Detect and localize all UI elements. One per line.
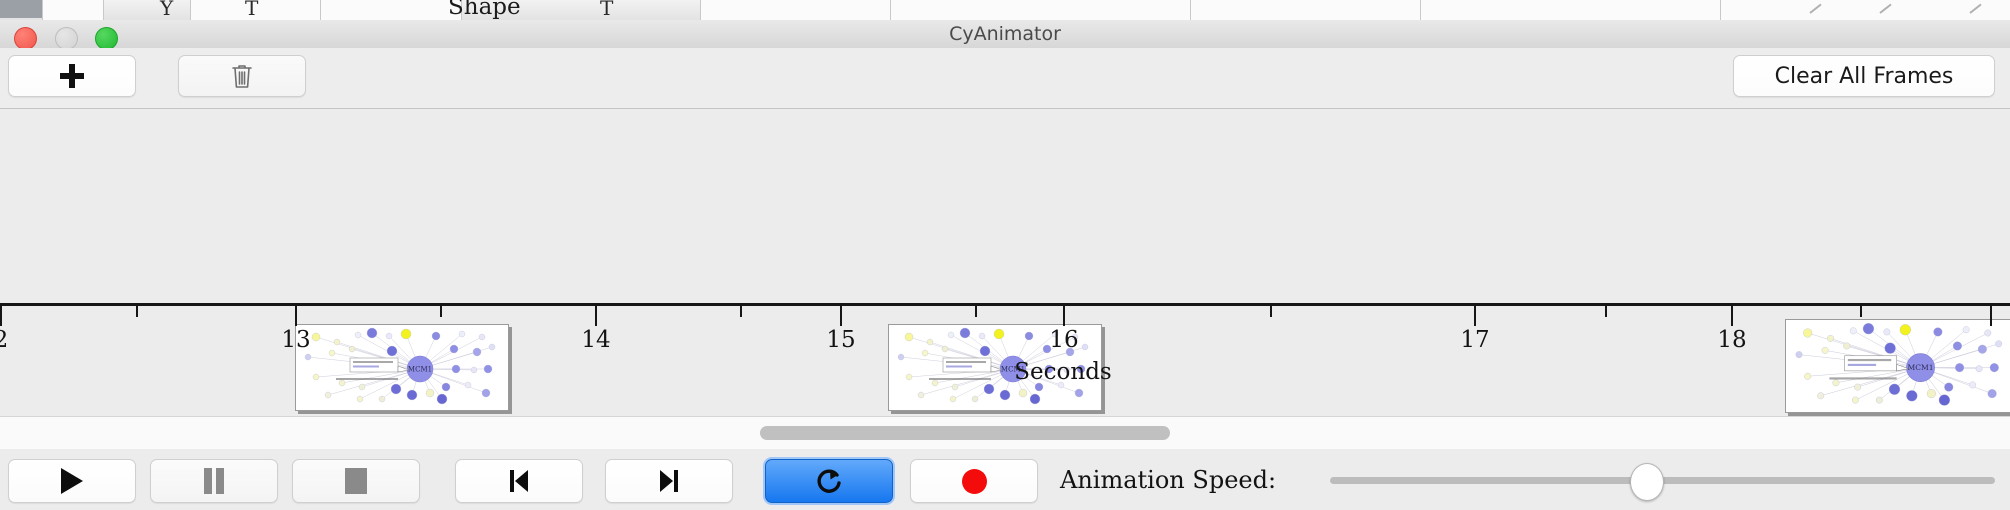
timeline-scrollbar[interactable]: [0, 416, 2010, 450]
pause-icon: [203, 468, 225, 494]
title-bar: CyAnimator: [0, 20, 2010, 49]
timeline-tick-label: 15: [826, 327, 855, 353]
timeline-tick-minor: [1605, 306, 1607, 317]
timeline-tick-major: [295, 306, 297, 326]
background-window-text: Shape: [448, 0, 521, 20]
window-title: CyAnimator: [0, 20, 2010, 48]
timeline-scrollbar-thumb[interactable]: [760, 426, 1170, 440]
delete-frame-button[interactable]: [178, 55, 306, 97]
toolbar: Clear All Frames: [0, 48, 2010, 109]
add-frame-button[interactable]: [8, 55, 136, 97]
timeline-tick-major: [1474, 306, 1476, 326]
record-icon: [962, 469, 987, 494]
animation-speed-label: Animation Speed:: [1060, 459, 1276, 501]
clear-all-frames-label: Clear All Frames: [1775, 64, 1954, 89]
animation-speed-slider-thumb[interactable]: [1630, 463, 1664, 501]
play-button[interactable]: [8, 459, 136, 503]
timeline-tick-minor: [975, 306, 977, 317]
timeline-tick-minor: [740, 306, 742, 317]
timeline-tick-major: [1990, 306, 1992, 326]
timeline-tick-label: 16: [1049, 327, 1078, 353]
timeline-axis-title: Seconds: [0, 359, 2010, 385]
play-icon: [61, 468, 83, 494]
timeline-tick-minor: [136, 306, 138, 317]
background-window-strip: Y T Ṫ Shape: [0, 0, 2010, 20]
previous-frame-button[interactable]: [455, 459, 583, 503]
trash-icon: [231, 63, 253, 89]
timeline-tick-major: [595, 306, 597, 326]
timeline-tick-major: [840, 306, 842, 326]
skip-back-icon: [506, 468, 532, 494]
timeline-tick-label: 17: [1460, 327, 1489, 353]
timeline-tick-label: 13: [281, 327, 310, 353]
timeline-tick-minor: [1860, 306, 1862, 317]
loop-button[interactable]: [765, 459, 893, 503]
loop-icon: [814, 466, 844, 496]
timeline-tick-major: [0, 306, 2, 326]
cyanimator-window: Y T Ṫ Shape CyAnimator Clear All Frames …: [0, 0, 2010, 510]
stop-icon: [345, 468, 367, 494]
timeline-tick-major: [1731, 306, 1733, 326]
timeline-tick-minor: [440, 306, 442, 317]
pause-button[interactable]: [150, 459, 278, 503]
timeline-axis: [0, 303, 2010, 306]
timeline-tick-label: 18: [1717, 327, 1746, 353]
stop-button[interactable]: [292, 459, 420, 503]
timeline-tick-label: 2: [0, 327, 8, 353]
timeline-tick-label: 14: [581, 327, 610, 353]
transport-bar: Animation Speed:: [0, 449, 2010, 510]
skip-forward-icon: [656, 468, 682, 494]
timeline-tick-minor: [1270, 306, 1272, 317]
timeline-panel[interactable]: MCM1 MCM1 MCM1 2131415161718 Seconds: [0, 109, 2010, 416]
plus-icon: [59, 63, 85, 89]
record-button[interactable]: [910, 459, 1038, 503]
clear-all-frames-button[interactable]: Clear All Frames: [1733, 55, 1995, 97]
next-frame-button[interactable]: [605, 459, 733, 503]
timeline-tick-major: [1063, 306, 1065, 326]
